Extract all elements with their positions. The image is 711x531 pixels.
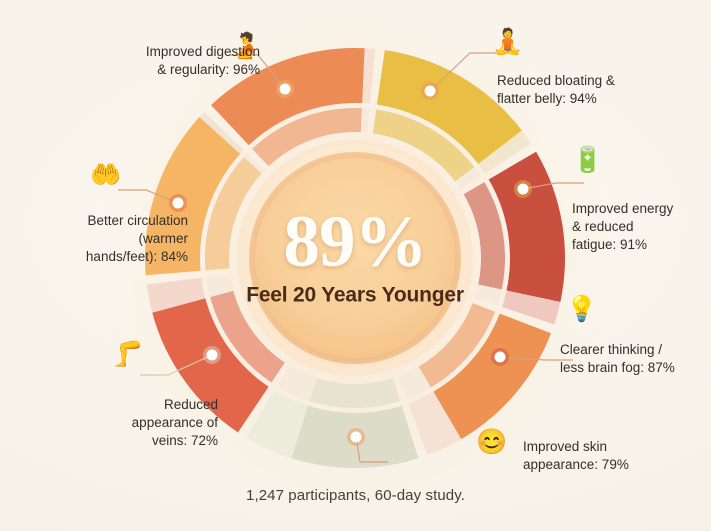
- segment-skin[interactable]: [433, 314, 551, 440]
- segment-inner-veins: [310, 378, 401, 408]
- marker-dot-bloating[interactable]: [425, 86, 436, 97]
- hands-heart-icon: 🤲: [90, 163, 121, 188]
- infographic-canvas: 89% Feel 20 Years Younger 🫄Improved dige…: [0, 0, 711, 531]
- label-energy[interactable]: Improved energy & reduced fatigue: 91%: [572, 200, 711, 253]
- marker-dot-veins[interactable]: [207, 350, 218, 361]
- label-circulation[interactable]: Better circulation (warmer hands/feet): …: [18, 212, 188, 265]
- marker-dot-skin[interactable]: [351, 432, 362, 443]
- leg-sparkle-icon: 🦵: [112, 342, 143, 367]
- face-sparkle-icon: 😊: [476, 430, 507, 455]
- label-skin[interactable]: Improved skin appearance: 79%: [523, 438, 683, 474]
- label-digestion[interactable]: Improved digestion & regularity: 96%: [90, 43, 260, 79]
- label-bloating[interactable]: Reduced bloating & flatter belly: 94%: [497, 72, 657, 108]
- head-bulb-icon: 💡: [566, 297, 597, 322]
- study-footnote: 1,247 participants, 60-day study.: [0, 487, 711, 504]
- battery-chart-icon: 🔋: [572, 148, 603, 173]
- marker-dot-circulation[interactable]: [173, 198, 184, 209]
- label-veins[interactable]: Reduced appearance of veins: 72%: [48, 396, 218, 449]
- belly-leaf-icon: 🧘: [492, 30, 523, 55]
- marker-dot-brainfog[interactable]: [495, 352, 506, 363]
- label-brainfog[interactable]: Clearer thinking / less brain fog: 87%: [560, 341, 711, 377]
- marker-dot-digestion[interactable]: [280, 84, 291, 95]
- marker-dot-energy[interactable]: [518, 184, 529, 195]
